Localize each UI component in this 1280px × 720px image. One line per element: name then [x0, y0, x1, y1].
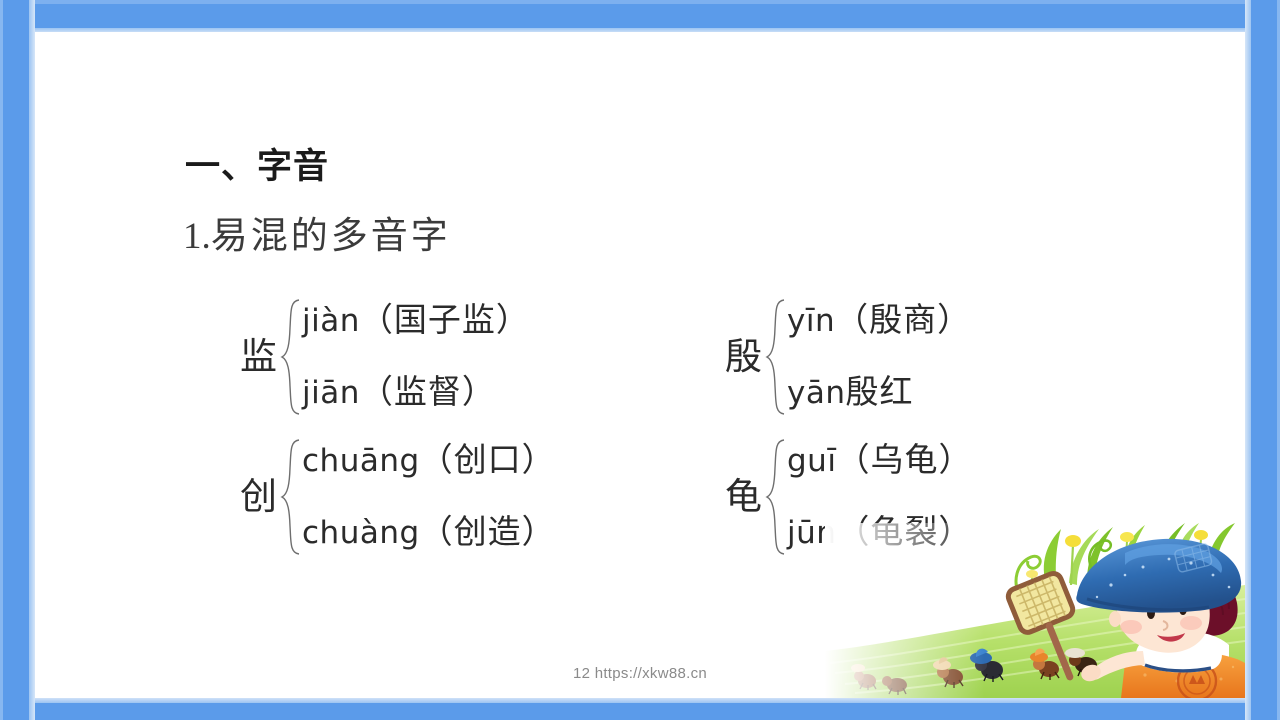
curly-brace-icon	[279, 298, 301, 416]
pinyin: chuàng	[302, 516, 420, 550]
frame-top-band	[0, 0, 1280, 32]
section-subtitle: 1.易混的多音字	[183, 205, 451, 259]
entry-character: 监	[240, 339, 279, 376]
gloss: （创口）	[420, 443, 556, 479]
section-subtitle-label: 易混的多音字	[211, 216, 451, 257]
entry-readings: jiàn（国子监） jiān（监督）	[301, 298, 530, 416]
entry-character: 龟	[725, 479, 764, 516]
polyphone-entry: 监 jiàn（国子监） jiān（监督）	[240, 298, 530, 416]
pinyin: jūn	[787, 516, 836, 550]
slide-content-area: 一、字音 1.易混的多音字 监 jiàn（国子监） jiān（监督） 创	[35, 33, 1245, 698]
footer-watermark: 12 https://xkw88.cn	[35, 665, 1245, 682]
pinyin: yīn	[787, 304, 835, 338]
gloss: （乌龟）	[836, 443, 972, 479]
reading-row: yīn（殷商）	[787, 298, 971, 344]
curly-brace-icon	[764, 298, 786, 416]
frame-right-band	[1245, 0, 1280, 720]
frame-left-band	[0, 0, 35, 720]
pinyin: guī	[787, 444, 836, 478]
reading-row: jiàn（国子监）	[302, 298, 530, 344]
gloss: （国子监）	[360, 303, 530, 339]
pinyin: chuāng	[302, 444, 420, 478]
entry-character: 殷	[725, 339, 764, 376]
polyphone-entry: 龟 guī（乌龟） jūn（龟裂）	[725, 438, 972, 556]
reading-row: jiān（监督）	[302, 370, 530, 416]
section-number: 1.	[183, 216, 211, 257]
polyphone-entry: 创 chuāng（创口） chuàng（创造）	[240, 438, 556, 556]
pinyin: yān	[787, 376, 846, 410]
entry-character: 创	[240, 479, 279, 516]
page-title: 一、字音	[185, 138, 329, 189]
pinyin: jiàn	[302, 304, 360, 338]
reading-row: chuàng（创造）	[302, 510, 556, 556]
gloss: 殷红	[846, 375, 914, 411]
entry-readings: yīn（殷商） yān 殷红	[786, 298, 971, 416]
gloss: （龟裂）	[836, 515, 972, 551]
gloss: （殷商）	[835, 303, 971, 339]
curly-brace-icon	[279, 438, 301, 556]
gloss: （创造）	[420, 515, 556, 551]
reading-row: guī（乌龟）	[787, 438, 972, 484]
pinyin: jiān	[302, 376, 360, 410]
polyphone-entry: 殷 yīn（殷商） yān 殷红	[725, 298, 971, 416]
reading-row: chuāng（创口）	[302, 438, 556, 484]
slide-canvas: 一、字音 1.易混的多音字 监 jiàn（国子监） jiān（监督） 创	[0, 0, 1280, 720]
gloss: （监督）	[360, 375, 496, 411]
reading-row: jūn（龟裂）	[787, 510, 972, 556]
curly-brace-icon	[764, 438, 786, 556]
frame-bottom-band	[0, 698, 1280, 720]
entry-readings: guī（乌龟） jūn（龟裂）	[786, 438, 972, 556]
entry-readings: chuāng（创口） chuàng（创造）	[301, 438, 556, 556]
reading-row: yān 殷红	[787, 370, 971, 416]
